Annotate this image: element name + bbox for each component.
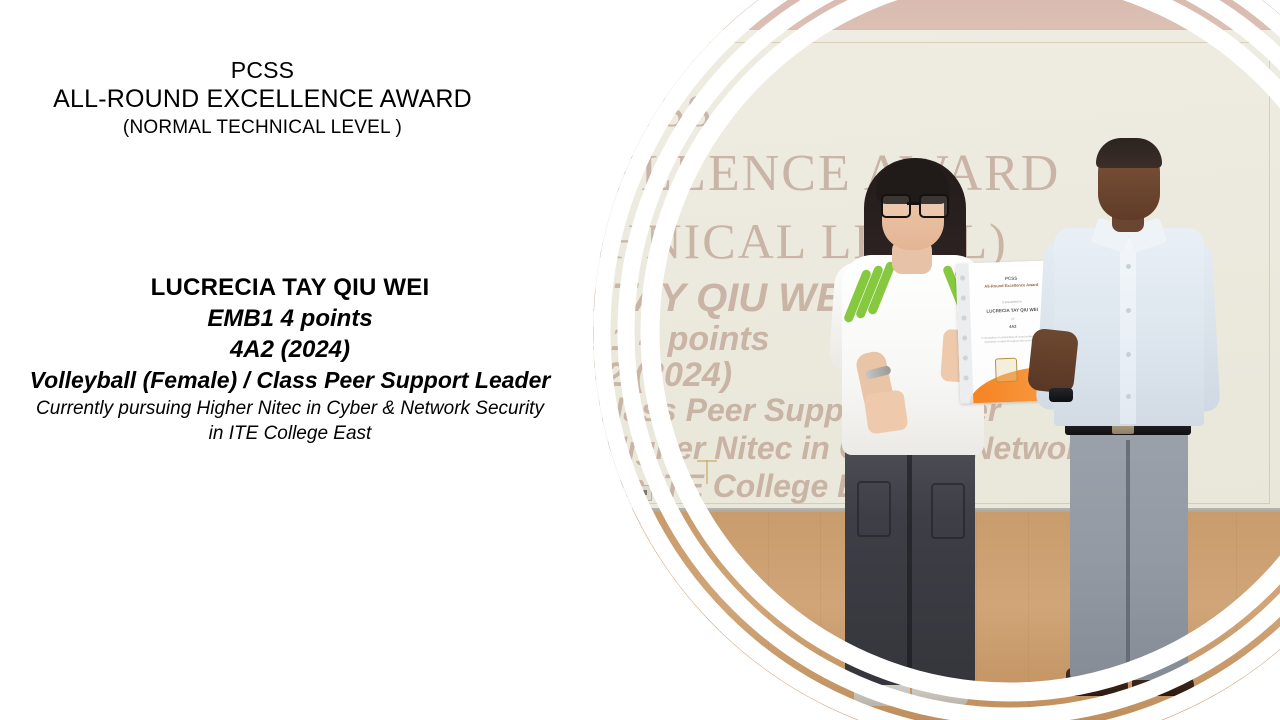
award-slide: CSS CELLENCE AWARD CHNICAL LEVEL) IA TAY… <box>0 0 1280 720</box>
student-hand-left <box>863 389 908 434</box>
wall-socket-left <box>638 485 652 501</box>
certificate-recipient: LUCRECIA TAY QIU WEI <box>975 307 1049 315</box>
certificate-subtitle: All-Round Excellence Award <box>974 282 1048 290</box>
wall-marking <box>706 460 708 484</box>
award-photo: CSS CELLENCE AWARD CHNICAL LEVEL) IA TAY… <box>560 0 1280 720</box>
backdrop-text-line8: ng Higher Nitec in Cyber & Network <box>560 430 1097 467</box>
glasses-lens-left <box>881 194 911 218</box>
sleeve-hole <box>961 295 966 300</box>
presenter-wristwatch <box>1049 388 1073 402</box>
recipient-name: LUCRECIA TAY QIU WEI <box>0 272 580 303</box>
certificate-presented-label: is presented to <box>975 299 1049 306</box>
certificate-seal <box>995 358 1018 383</box>
backdrop-text-line1: CSS <box>628 84 713 137</box>
sleeve-hole <box>961 315 966 320</box>
recipient-note-line1: Currently pursuing Higher Nitec in Cyber… <box>0 396 580 421</box>
recipient-class-year: 4A2 (2024) <box>0 334 580 365</box>
certificate-of-label: of <box>975 316 1049 323</box>
student-jeans <box>845 425 975 685</box>
photo-region: CSS CELLENCE AWARD CHNICAL LEVEL) IA TAY… <box>560 0 1280 720</box>
jeans-pocket-left <box>857 481 891 537</box>
sleeve-hole <box>963 355 968 360</box>
presenter-hand <box>1027 328 1079 394</box>
student-glasses <box>881 194 945 214</box>
glasses-lens-right <box>919 194 949 218</box>
award-level: (NORMAL TECHNICAL LEVEL ) <box>0 115 525 141</box>
award-title-block: PCSS ALL-ROUND EXCELLENCE AWARD (NORMAL … <box>0 56 525 141</box>
shirt-button <box>1126 352 1131 357</box>
shirt-button <box>1126 264 1131 269</box>
presenter-shirt-placket <box>1120 238 1136 424</box>
backdrop-text-line4: IA TAY QIU WEI <box>562 276 854 321</box>
sleeve-hole <box>960 275 965 280</box>
jeans-pocket-right <box>931 483 965 539</box>
presenter-trousers <box>1070 430 1188 680</box>
recipient-grade: EMB1 4 points <box>0 303 580 334</box>
shirt-button <box>1126 394 1131 399</box>
award-name: ALL-ROUND EXCELLENCE AWARD <box>0 84 525 115</box>
text-panel: PCSS ALL-ROUND EXCELLENCE AWARD (NORMAL … <box>0 0 600 720</box>
shirt-button <box>1126 308 1131 313</box>
recipient-note-line2: in ITE College East <box>0 421 580 446</box>
sleeve-hole <box>962 335 967 340</box>
recipient-block: LUCRECIA TAY QIU WEI EMB1 4 points 4A2 (… <box>0 272 580 446</box>
presenter-hair <box>1096 138 1162 168</box>
school-name: PCSS <box>0 56 525 84</box>
sleeve-hole <box>963 375 968 380</box>
backdrop-text-line2: CELLENCE AWARD <box>570 144 1060 203</box>
glasses-bridge <box>907 202 919 205</box>
recipient-cca-role: Volleyball (Female) / Class Peer Support… <box>0 365 580 396</box>
